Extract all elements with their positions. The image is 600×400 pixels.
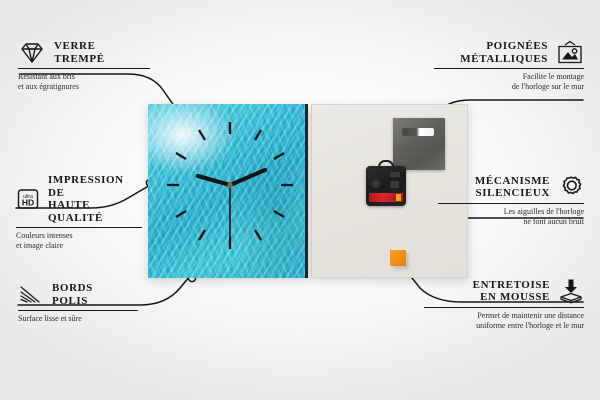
feature-edges: BORDS POLIS Surface lisse et sûre [18, 282, 138, 324]
feature-rule [18, 68, 150, 69]
clock-mechanism [366, 166, 406, 206]
wall-frame-hook-icon [556, 40, 584, 65]
mechanism-detail [390, 172, 400, 177]
polished-edges-icon [18, 284, 44, 306]
feature-glass: VERRE TREMPÉ Résistant aux bris et aux é… [18, 40, 150, 91]
feature-description: Facilite le montage de l'horloge sur le … [434, 72, 584, 91]
feature-rule [434, 68, 584, 69]
gear-icon [558, 174, 584, 200]
foam-spacer-pad [390, 250, 406, 266]
diamond-icon [18, 41, 46, 65]
feature-description: Permet de maintenir une distance uniform… [424, 311, 584, 330]
feature-description: Résistant aux bris et aux égratignures [18, 72, 150, 91]
feature-rule [438, 203, 584, 204]
feature-title: IMPRESSION DE HAUTE QUALITÉ [48, 174, 142, 224]
infographic-canvas: VERRE TREMPÉ Résistant aux bris et aux é… [0, 0, 600, 400]
feature-description: Les aiguilles de l'horloge ne font aucun… [438, 207, 584, 226]
mechanism-hanger-loop [378, 160, 394, 170]
metal-hanger-plate [393, 118, 445, 170]
clock-dial [148, 104, 308, 278]
feature-handles: POIGNÉES MÉTALLIQUES Facilite le montage… [434, 40, 584, 91]
feature-spacer: ENTRETOISE EN MOUSSE Permet de maintenir… [424, 278, 584, 330]
feature-rule [16, 227, 142, 228]
mechanism-detail [372, 180, 380, 188]
clock-battery [369, 193, 403, 202]
ultra-hd-badge-icon: ultra HD [16, 187, 40, 211]
feature-print: ultra HD IMPRESSION DE HAUTE QUALITÉ Cou… [16, 174, 142, 250]
feature-rule [18, 310, 138, 311]
feature-description: Surface lisse et sûre [18, 314, 138, 324]
feature-title: ENTRETOISE EN MOUSSE [473, 279, 550, 304]
feature-description: Couleurs intenses et image claire [16, 231, 142, 250]
feature-title: POIGNÉES MÉTALLIQUES [460, 40, 548, 65]
badge-bottom-label: HD [22, 198, 34, 208]
product-image [148, 104, 468, 278]
feature-mechanism: MÉCANISME SILENCIEUX Les aiguilles de l'… [438, 174, 584, 226]
hanger-keyhole-slot [402, 128, 434, 136]
mechanism-detail [390, 181, 399, 188]
feature-rule [424, 307, 584, 308]
feature-title: BORDS POLIS [52, 282, 93, 307]
feature-title: VERRE TREMPÉ [54, 40, 105, 65]
foam-spacer-arrow-icon [558, 278, 584, 304]
feature-title: MÉCANISME SILENCIEUX [475, 175, 550, 200]
